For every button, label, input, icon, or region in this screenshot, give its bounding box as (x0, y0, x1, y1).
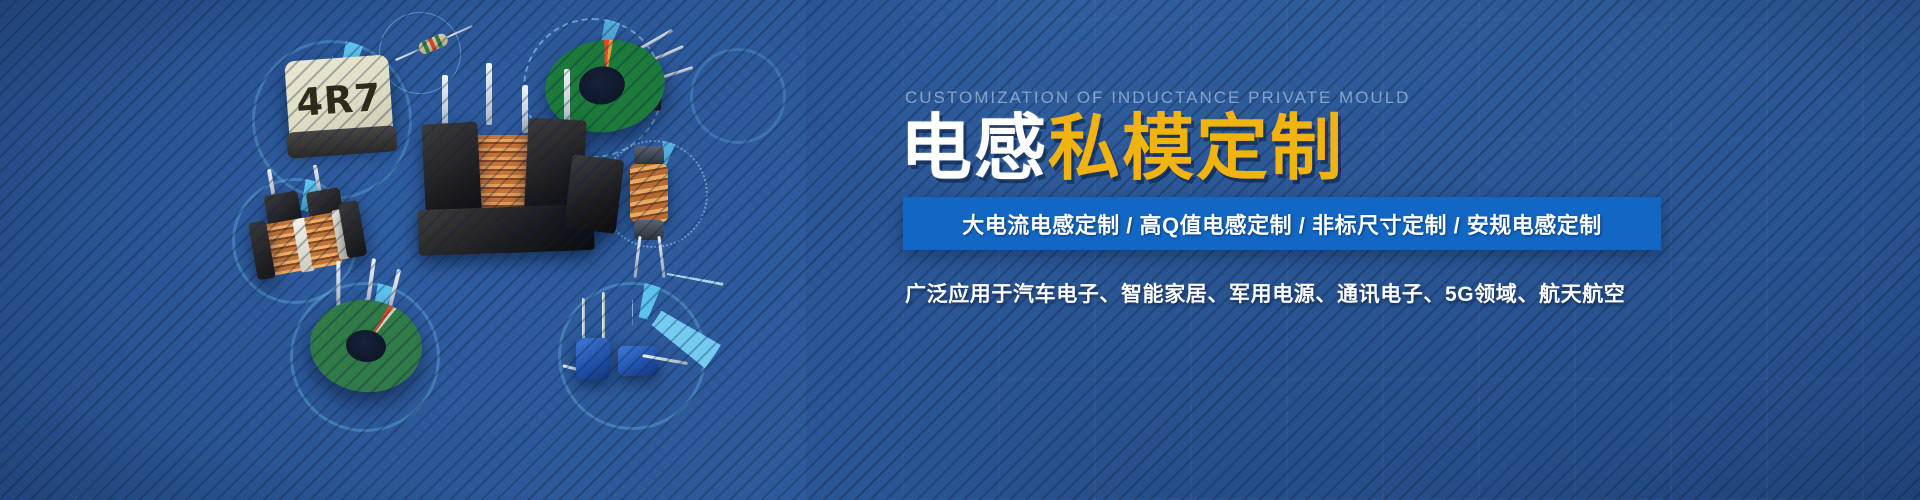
banner-eyebrow-english: CUSTOMIZATION OF INDUCTANCE PRIVATE MOUL… (905, 88, 1410, 108)
service-pill-bar[interactable]: 大电流电感定制 / 高Q值电感定制 / 非标尺寸定制 / 安规电感定制 (903, 197, 1661, 250)
headline-white-part: 电感 (900, 106, 1048, 190)
service-pill-bar-text: 大电流电感定制 / 高Q值电感定制 / 非标尺寸定制 / 安规电感定制 (962, 208, 1602, 240)
product-banner: 4R7 (0, 0, 1920, 500)
banner-sub-description: 广泛应用于汽车电子、智能家居、军用电源、通讯电子、5G领域、航天航空 (905, 278, 1625, 308)
banner-headline: 电感私模定制 (900, 112, 1344, 184)
banner-text-content: CUSTOMIZATION OF INDUCTANCE PRIVATE MOUL… (905, 0, 1705, 500)
headline-gold-part: 私模定制 (1048, 106, 1344, 190)
